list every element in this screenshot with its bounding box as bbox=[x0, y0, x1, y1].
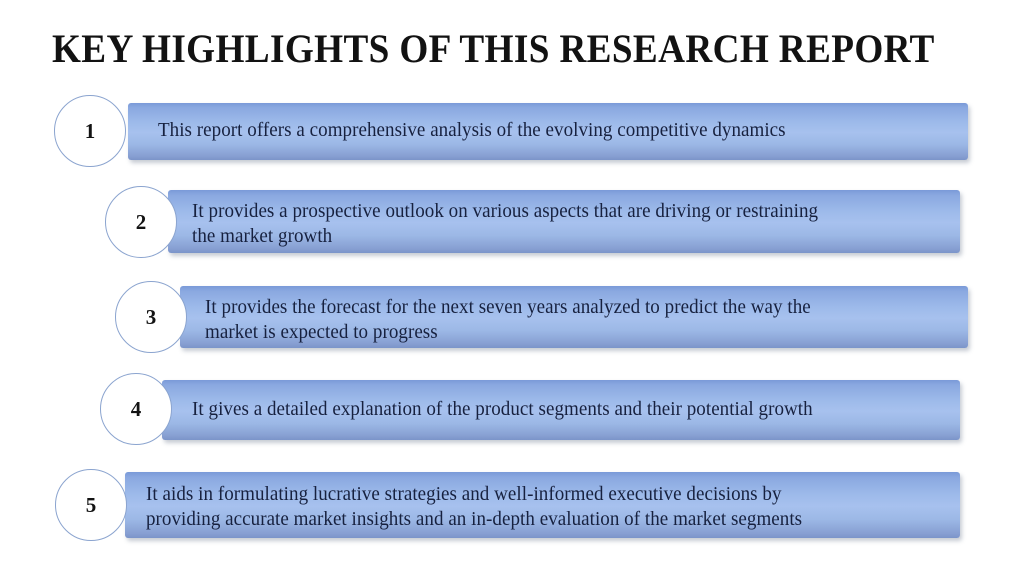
highlight-text-2: It provides a prospective outlook on var… bbox=[192, 199, 948, 249]
highlight-number-circle-5[interactable]: 5 bbox=[55, 469, 127, 541]
highlight-number-circle-2[interactable]: 2 bbox=[105, 186, 177, 258]
highlight-text-4: It gives a detailed explanation of the p… bbox=[192, 397, 948, 422]
slide-canvas: KEY HIGHLIGHTS OF THIS RESEARCH REPORT T… bbox=[0, 0, 1024, 570]
highlight-number-circle-4[interactable]: 4 bbox=[100, 373, 172, 445]
highlight-text-3: It provides the forecast for the next se… bbox=[205, 295, 946, 345]
highlight-text-5: It aids in formulating lucrative strateg… bbox=[146, 482, 941, 532]
highlight-text-1: This report offers a comprehensive analy… bbox=[158, 118, 938, 143]
highlight-number-4: 4 bbox=[131, 399, 142, 420]
highlight-number-1: 1 bbox=[85, 121, 96, 142]
highlight-number-circle-3[interactable]: 3 bbox=[115, 281, 187, 353]
highlight-number-3: 3 bbox=[146, 307, 157, 328]
highlight-number-circle-1[interactable]: 1 bbox=[54, 95, 126, 167]
highlight-number-2: 2 bbox=[136, 212, 147, 233]
highlight-number-5: 5 bbox=[86, 495, 97, 516]
page-title: KEY HIGHLIGHTS OF THIS RESEARCH REPORT bbox=[52, 24, 935, 74]
